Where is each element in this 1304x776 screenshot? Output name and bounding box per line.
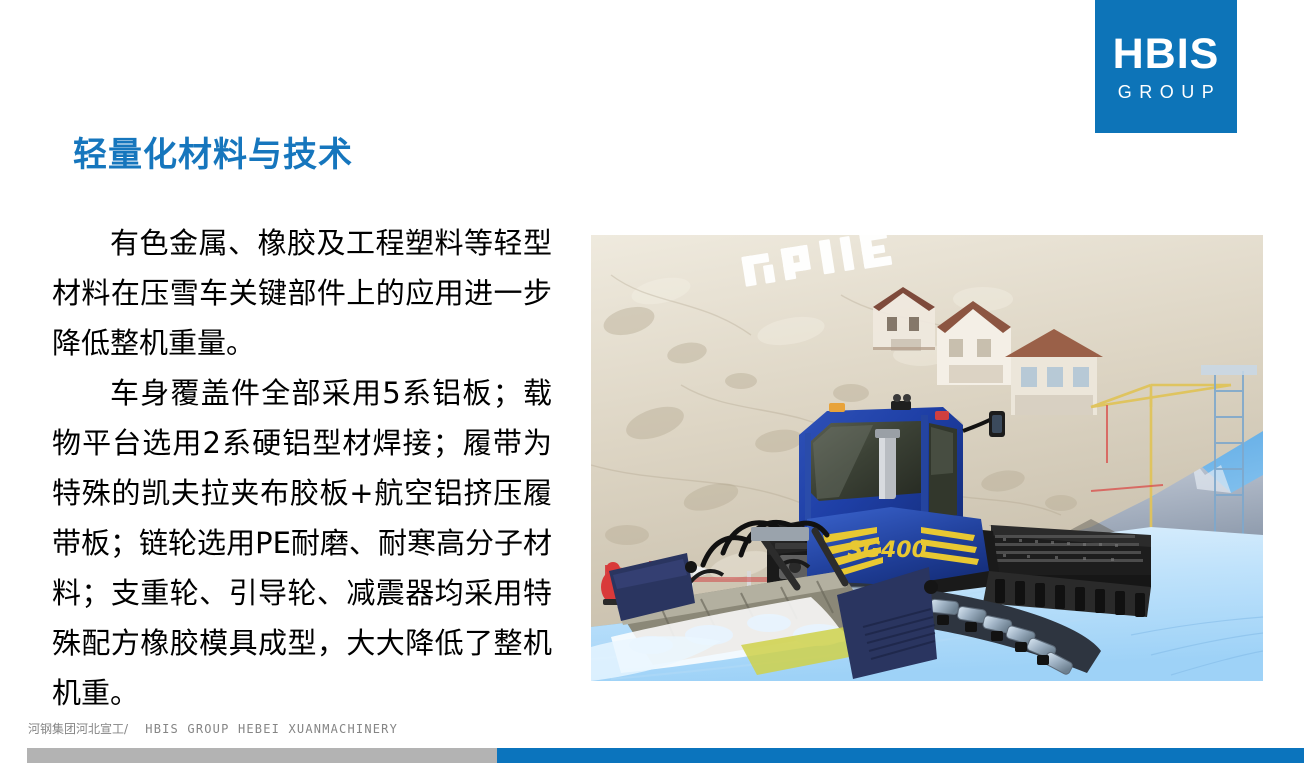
body-paragraph-2: 车身覆盖件全部采用5系铝板；载物平台选用2系硬铝型材焊接；履带为特殊的凯夫拉夹布…: [52, 368, 552, 718]
hbis-logo-secondary-text: GROUP: [1111, 83, 1222, 101]
slide-title: 轻量化材料与技术: [73, 135, 353, 176]
hbis-logo-primary-text: HBIS: [1113, 33, 1220, 76]
footer-text-chinese: 河钢集团河北宣工/: [28, 722, 128, 736]
bottom-bar-gray-segment: [27, 748, 497, 763]
vehicle-model-label: SG400: [847, 538, 927, 563]
bottom-bar-blue-segment: [497, 748, 1304, 763]
snow-groomer-photo-graphic: SG400: [591, 235, 1263, 681]
hbis-logo: HBIS GROUP: [1095, 0, 1237, 133]
body-paragraph-1: 有色金属、橡胶及工程塑料等轻型材料在压雪车关键部件上的应用进一步降低整机重量。: [52, 218, 552, 368]
footer-text-english: HBIS GROUP HEBEI XUANMACHINERY: [145, 722, 398, 736]
footer-text: 河钢集团河北宣工/ HBIS GROUP HEBEI XUANMACHINERY: [28, 720, 398, 737]
body-copy: 有色金属、橡胶及工程塑料等轻型材料在压雪车关键部件上的应用进一步降低整机重量。 …: [52, 218, 552, 718]
snow-groomer-photo: SG400: [591, 235, 1263, 681]
